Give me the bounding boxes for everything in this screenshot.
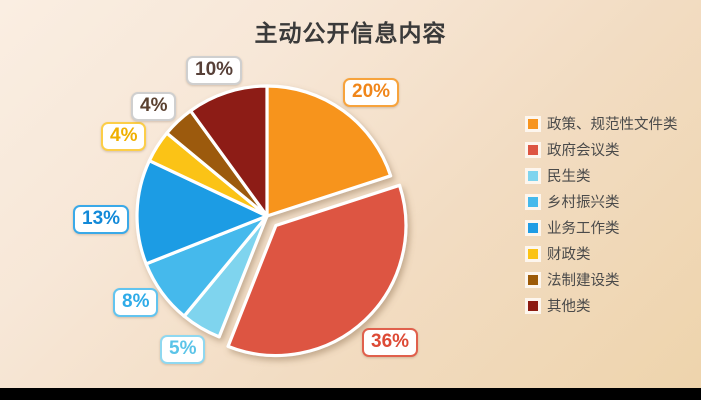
legend-item[interactable]: 乡村振兴类 xyxy=(528,190,698,213)
chart-legend: 政策、规范性文件类政府会议类民生类乡村振兴类业务工作类财政类法制建设类其他类 xyxy=(528,112,698,320)
legend-swatch-icon xyxy=(528,145,538,155)
label-10: 10% xyxy=(186,56,242,85)
legend-item[interactable]: 政府会议类 xyxy=(528,138,698,161)
label-36: 36% xyxy=(362,328,418,357)
legend-item-label: 政策、规范性文件类 xyxy=(547,113,678,134)
label-4b: 4% xyxy=(131,92,176,121)
label-5: 5% xyxy=(160,335,205,364)
legend-item[interactable]: 其他类 xyxy=(528,294,698,317)
legend-swatch-icon xyxy=(528,197,538,207)
legend-swatch-icon xyxy=(528,275,538,285)
legend-item-label: 财政类 xyxy=(547,243,591,264)
pie-slices-group xyxy=(137,86,406,355)
chart-canvas: 主动公开信息内容 20%36%5%8%13%4%4%10% 政策、规范性文件类政… xyxy=(0,0,701,400)
legend-item[interactable]: 财政类 xyxy=(528,242,698,265)
legend-item-label: 乡村振兴类 xyxy=(547,191,620,212)
legend-swatch-icon xyxy=(528,223,538,233)
legend-swatch-icon xyxy=(528,119,538,129)
legend-item[interactable]: 民生类 xyxy=(528,164,698,187)
label-20: 20% xyxy=(343,78,399,107)
label-13: 13% xyxy=(73,205,129,234)
label-4a: 4% xyxy=(101,122,146,151)
label-8: 8% xyxy=(113,288,158,317)
legend-item-label: 其他类 xyxy=(547,295,591,316)
legend-swatch-icon xyxy=(528,171,538,181)
legend-item-label: 业务工作类 xyxy=(547,217,620,238)
legend-item[interactable]: 法制建设类 xyxy=(528,268,698,291)
legend-item[interactable]: 政策、规范性文件类 xyxy=(528,112,698,135)
legend-item[interactable]: 业务工作类 xyxy=(528,216,698,239)
legend-swatch-icon xyxy=(528,249,538,259)
legend-item-label: 民生类 xyxy=(547,165,591,186)
legend-item-label: 政府会议类 xyxy=(547,139,620,160)
legend-item-label: 法制建设类 xyxy=(547,269,620,290)
legend-swatch-icon xyxy=(528,301,538,311)
